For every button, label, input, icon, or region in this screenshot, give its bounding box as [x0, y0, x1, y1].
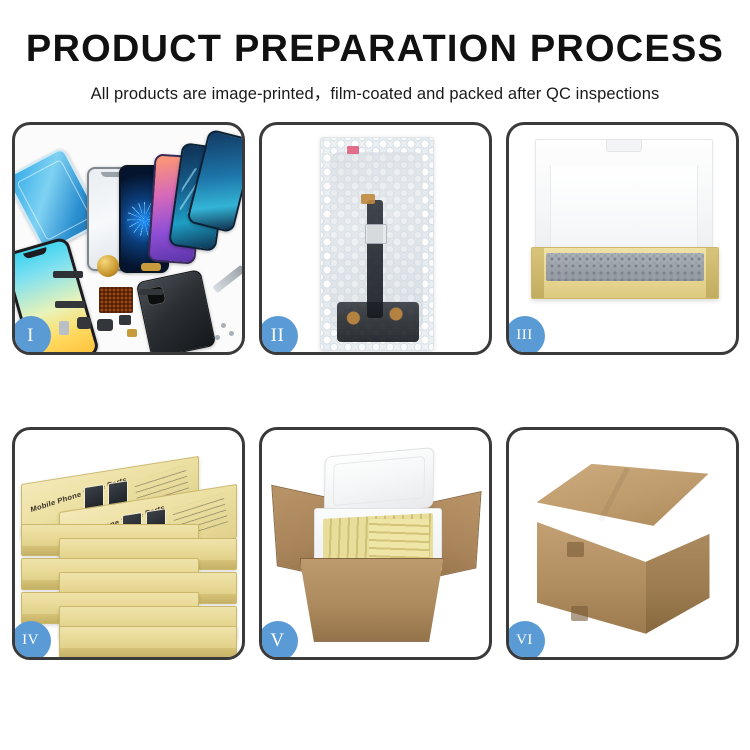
- step-badge-2: II: [259, 316, 298, 355]
- carton-handle-notch: [571, 606, 588, 621]
- flex-cable-part: [55, 301, 85, 308]
- retail-box-stack: Mobile Phone Spare Parts Mobile Phone Sp…: [19, 454, 241, 648]
- step-panel-1[interactable]: I: [12, 122, 245, 355]
- screw-part: [215, 335, 220, 340]
- step-badge-1: I: [12, 316, 51, 355]
- product-preparation-infographic: PRODUCT PREPARATION PROCESS All products…: [0, 0, 750, 750]
- tweezers-tool-icon: [212, 265, 242, 293]
- carton-body: [300, 558, 444, 642]
- copper-connector: [361, 194, 375, 204]
- step-4-image: Mobile Phone Spare Parts Mobile Phone Sp…: [15, 430, 242, 657]
- box-front-face: [60, 648, 236, 657]
- pink-qc-label: [347, 146, 359, 154]
- gray-foam-insert: [546, 253, 704, 281]
- antenna-flex-part: [139, 289, 163, 295]
- steps-grid: I II: [8, 122, 742, 660]
- connector-cluster: [337, 302, 419, 342]
- battery-connector-bar: [53, 271, 83, 278]
- step-badge-5: V: [259, 621, 298, 660]
- foam-box-lid: [323, 447, 434, 517]
- retail-boxes-row-inner: [369, 519, 429, 563]
- screw-part: [221, 323, 226, 328]
- header: PRODUCT PREPARATION PROCESS All products…: [0, 0, 750, 104]
- page-subtitle: All products are image-printed，film-coat…: [0, 80, 750, 104]
- logic-board-chip: [99, 287, 133, 313]
- step-badge-6: VI: [506, 621, 545, 660]
- carton-side-face: [646, 534, 710, 634]
- page-title: PRODUCT PREPARATION PROCESS: [0, 30, 750, 70]
- step-5-image: [262, 430, 489, 657]
- step-3-image: [509, 125, 736, 352]
- camera-module-part: [77, 317, 91, 329]
- step-badge-3: III: [506, 316, 545, 355]
- earpiece-part: [119, 315, 131, 325]
- step-panel-5[interactable]: V: [259, 427, 492, 660]
- speaker-part: [97, 319, 113, 331]
- bubble-wrap-pouch: [320, 137, 434, 351]
- screw-plate-part: [127, 329, 137, 337]
- kraft-box-tray: [531, 247, 719, 299]
- carton-handle-notch: [567, 542, 584, 557]
- sim-tray-part: [59, 321, 69, 335]
- flex-connector-pad: [365, 224, 387, 244]
- gold-contact-part: [141, 263, 161, 271]
- white-box-lid: [535, 139, 713, 259]
- step-panel-6[interactable]: VI: [506, 427, 739, 660]
- step-6-image: [509, 430, 736, 657]
- step-2-image: [262, 125, 489, 352]
- flex-cable-strip: [367, 200, 383, 318]
- step-1-image: [15, 125, 242, 352]
- carton-front-face: [537, 522, 647, 634]
- step-panel-2[interactable]: II: [259, 122, 492, 355]
- tray-left-end: [532, 248, 544, 298]
- step-panel-3[interactable]: III: [506, 122, 739, 355]
- step-badge-4: IV: [12, 621, 51, 660]
- phone-back-housing: [135, 269, 216, 352]
- screw-part: [229, 331, 234, 336]
- tray-right-end: [706, 248, 718, 298]
- retail-box-layer: [59, 626, 237, 657]
- lid-tab: [606, 139, 642, 152]
- step-panel-4[interactable]: Mobile Phone Spare Parts Mobile Phone Sp…: [12, 427, 245, 660]
- vibration-motor-part: [97, 255, 119, 277]
